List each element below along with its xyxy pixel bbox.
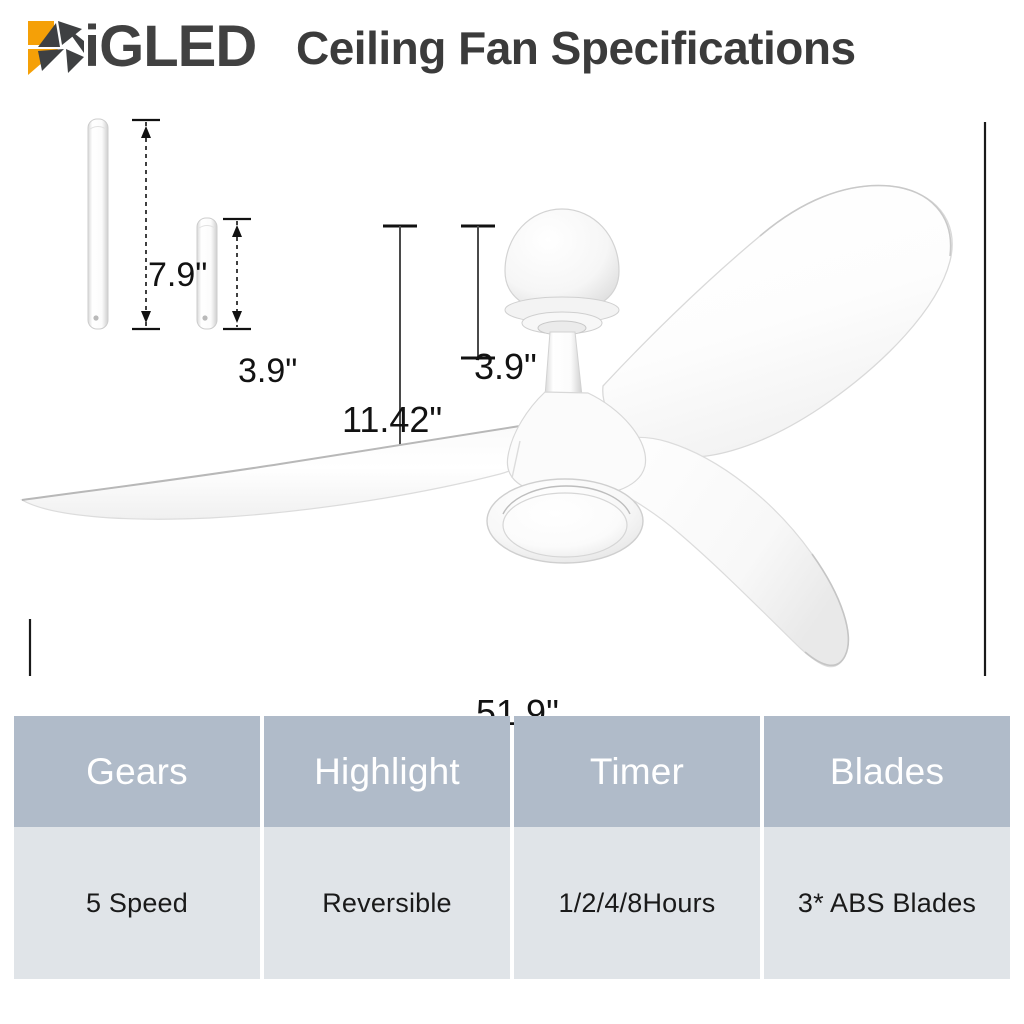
dimension-line-downrod-long — [132, 120, 160, 329]
page-header: iGLED Ceiling Fan Specifications — [0, 0, 1024, 96]
spec-header-gears: Gears — [14, 716, 260, 827]
spec-value-highlight: Reversible — [264, 827, 510, 979]
dimension-label-canopy-drop: 3.9" — [474, 346, 537, 388]
dimension-label-downrod-long: 7.9" — [148, 256, 207, 295]
page-title: Ceiling Fan Specifications — [296, 22, 856, 74]
spec-column-blades: Blades 3* ABS Blades — [764, 716, 1010, 979]
fan-light-diffuser — [503, 493, 627, 557]
spec-header-blades: Blades — [764, 716, 1010, 827]
aperture-logo-icon — [24, 19, 86, 77]
dimension-label-downrod-short: 3.9" — [238, 352, 297, 391]
spec-column-timer: Timer 1/2/4/8Hours — [514, 716, 760, 979]
spec-header-timer: Timer — [514, 716, 760, 827]
spec-value-blades: 3* ABS Blades — [764, 827, 1010, 979]
spec-value-timer: 1/2/4/8Hours — [514, 827, 760, 979]
brand-wordmark: iGLED — [84, 16, 256, 78]
fan-blade-left — [22, 426, 533, 519]
dimension-line-downrod-short — [223, 219, 251, 329]
spec-value-gears: 5 Speed — [14, 827, 260, 979]
spec-column-gears: Gears 5 Speed — [14, 716, 260, 979]
fan-blade-upper-right — [603, 185, 952, 457]
specification-table: Gears 5 Speed Highlight Reversible Timer… — [14, 716, 1010, 979]
spec-column-highlight: Highlight Reversible — [264, 716, 510, 979]
spec-header-highlight: Highlight — [264, 716, 510, 827]
ceiling-fan-dimension-diagram: 7.9" 3.9" 11.42" 3.9" 51.9" — [0, 96, 1024, 676]
dimension-line-canopy-drop — [461, 226, 495, 358]
downrod-long-illustration — [88, 119, 108, 329]
fan-downrod-installed — [545, 332, 582, 396]
dimension-label-total-height: 11.42" — [342, 399, 442, 441]
